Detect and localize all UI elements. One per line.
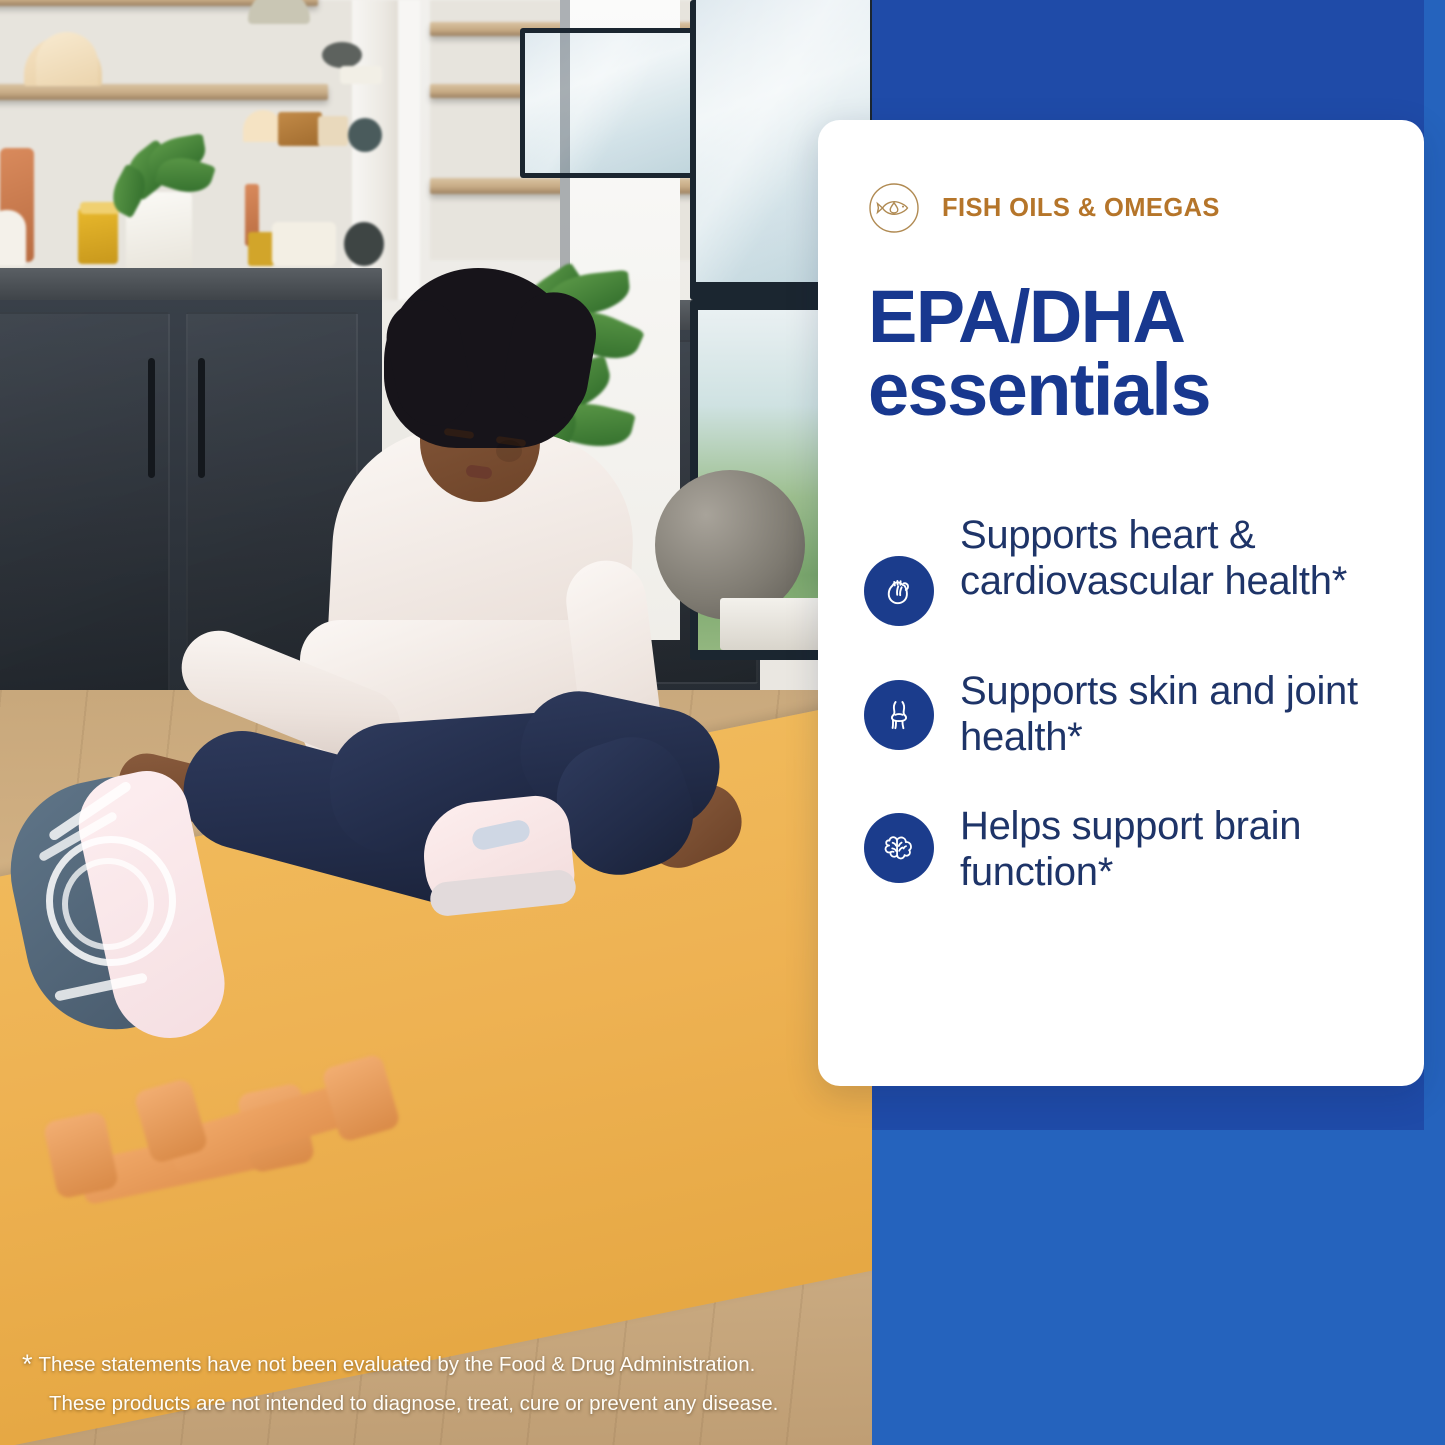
benefits-card: FISH OILS & OMEGAS EPA/DHA essentials xyxy=(818,120,1424,1086)
benefit-item-joint: Supports skin and joint health* xyxy=(864,666,1394,761)
benefit-text: Helps support brain function* xyxy=(960,801,1394,896)
window-reflection xyxy=(525,33,695,173)
decor-towels xyxy=(272,222,336,266)
cabinet-handle xyxy=(198,358,205,478)
headline-line-2: essentials xyxy=(868,353,1388,426)
decor-box xyxy=(278,112,322,146)
fish-omega-icon xyxy=(868,182,920,234)
shelf-plank xyxy=(0,84,328,100)
benefit-text: Supports heart & cardiovascular health* xyxy=(960,510,1394,605)
cabinet-handle xyxy=(148,358,155,478)
decor-bowl xyxy=(248,0,310,24)
infographic-stage: FISH OILS & OMEGAS EPA/DHA essentials xyxy=(0,0,1445,1445)
decor-candle xyxy=(78,208,118,264)
benefit-item-heart: Supports heart & cardiovascular health* xyxy=(864,510,1394,626)
benefits-list: Supports heart & cardiovascular health* xyxy=(864,510,1394,936)
wall-post-highlight xyxy=(398,0,420,300)
disclaimer-line-1: These statements have not been evaluated… xyxy=(39,1353,756,1376)
disclaimer-marker: * xyxy=(22,1349,33,1379)
brand-row: FISH OILS & OMEGAS xyxy=(868,182,1220,234)
dumbbell-head xyxy=(43,1110,120,1199)
person-face-shadow xyxy=(496,440,522,462)
page-title: EPA/DHA essentials xyxy=(868,280,1388,427)
decor-candle xyxy=(248,232,274,266)
decor-towel xyxy=(0,210,26,266)
blue-right-rail xyxy=(1424,0,1445,1445)
counter-left xyxy=(0,268,382,304)
disclaimer: *These statements have not been evaluate… xyxy=(22,1343,862,1420)
lifestyle-photo xyxy=(0,0,872,1445)
cabinet-door xyxy=(0,312,170,708)
brain-icon xyxy=(864,813,934,883)
disclaimer-line-2: These products are not intended to diagn… xyxy=(49,1387,862,1420)
decor-bowl xyxy=(348,118,382,152)
window-frame-upper xyxy=(520,28,700,178)
decor-sculpture xyxy=(344,222,384,266)
headline-line-1: EPA/DHA xyxy=(868,275,1184,358)
decor-box xyxy=(318,116,348,146)
decor-arch xyxy=(36,32,98,86)
blue-panel-bottom xyxy=(868,1130,1445,1445)
brand-label: FISH OILS & OMEGAS xyxy=(942,194,1220,223)
heart-icon xyxy=(864,556,934,626)
decor-arch xyxy=(243,110,283,142)
benefit-item-brain: Helps support brain function* xyxy=(864,801,1394,896)
knee-joint-icon xyxy=(864,680,934,750)
decor-book xyxy=(340,66,382,84)
benefit-text: Supports skin and joint health* xyxy=(960,666,1394,761)
decor-stone xyxy=(322,42,362,68)
